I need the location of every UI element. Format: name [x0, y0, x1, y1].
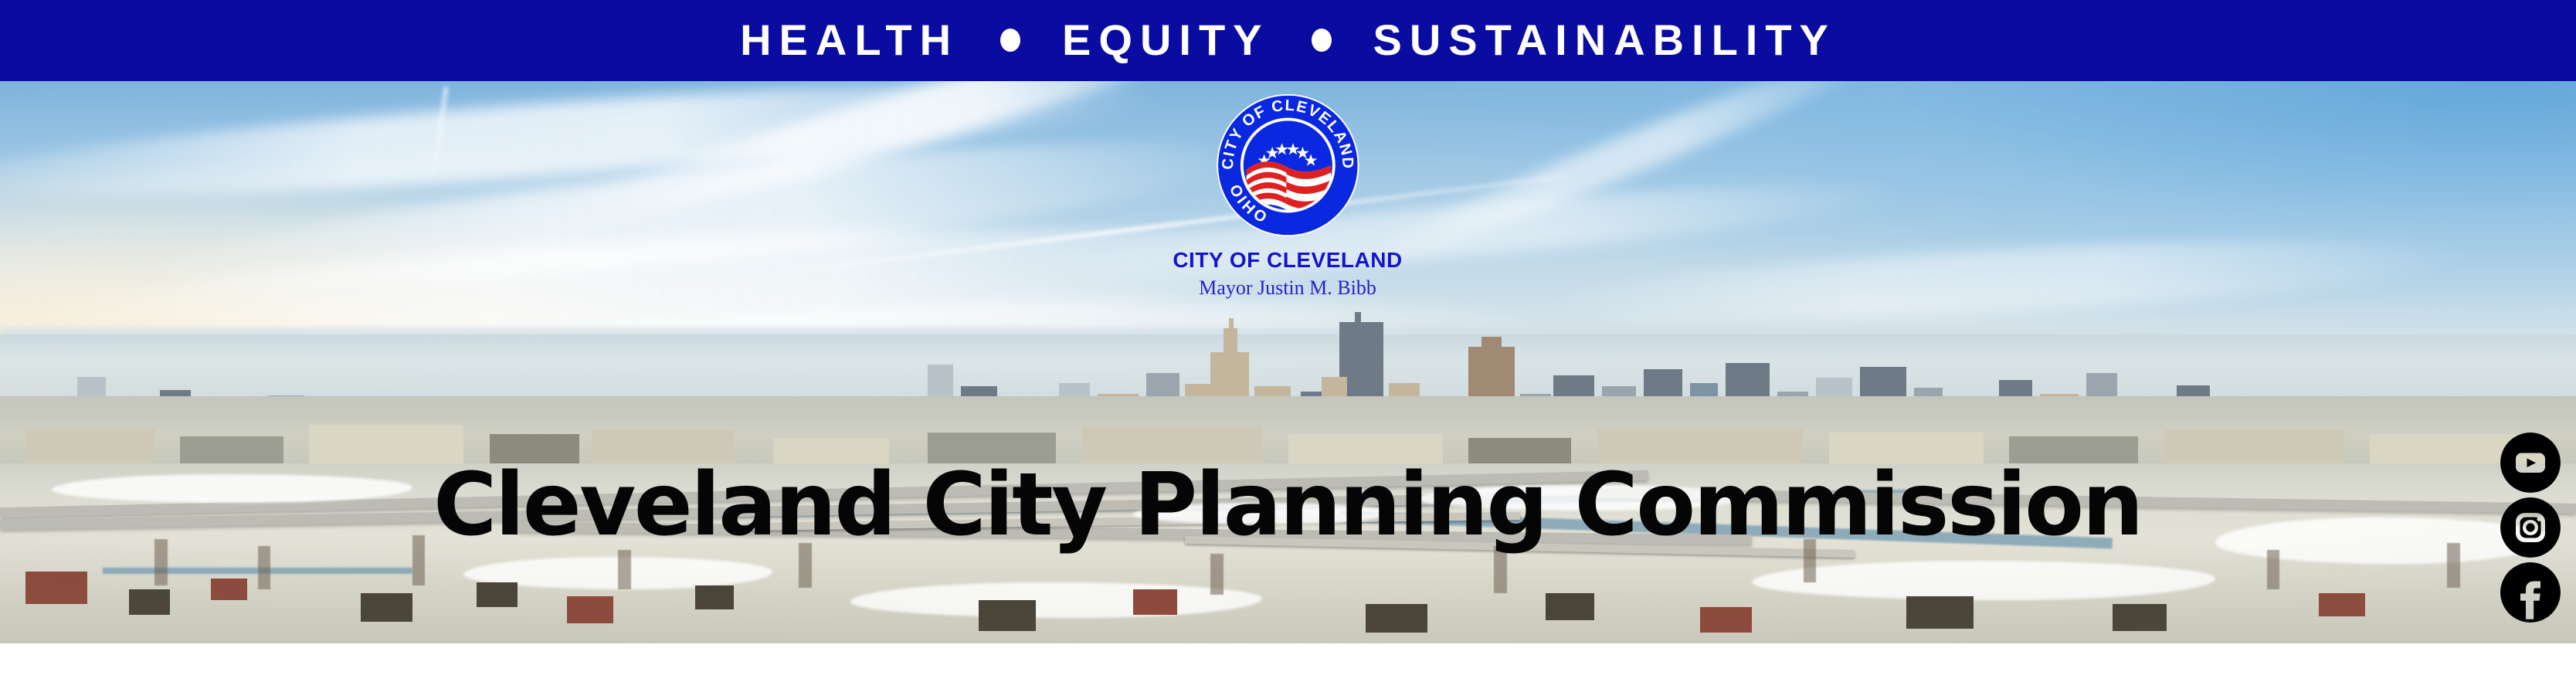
tagline-separator-dot-2 — [1312, 29, 1332, 52]
page-title: Cleveland City Planning Commission — [433, 462, 2142, 548]
city-of-cleveland-seal-icon: CITY OF CLEVELAND OHIO — [1213, 91, 1362, 239]
instagram-icon[interactable] — [2500, 497, 2561, 558]
tagline-word-sustainability: SUSTAINABILITY — [1373, 19, 1836, 62]
youtube-icon[interactable] — [2500, 433, 2561, 493]
tagline-inner: HEALTH EQUITY SUSTAINABILITY — [740, 19, 1836, 62]
facebook-icon[interactable] — [2500, 562, 2561, 623]
tagline-word-equity: EQUITY — [1062, 19, 1269, 62]
brand-subtitle-mayor: Mayor Justin M. Bibb — [1173, 277, 1402, 300]
page-root: HEALTH EQUITY SUSTAINABILITY — [0, 0, 2576, 682]
tagline-banner: HEALTH EQUITY SUSTAINABILITY — [0, 0, 2576, 81]
tagline-word-health: HEALTH — [740, 19, 959, 62]
tagline-separator-dot-1 — [1000, 29, 1020, 52]
city-brand-block: CITY OF CLEVELAND OHIO — [1173, 91, 1402, 299]
social-links — [2500, 433, 2561, 623]
brand-title: CITY OF CLEVELAND — [1173, 249, 1402, 273]
